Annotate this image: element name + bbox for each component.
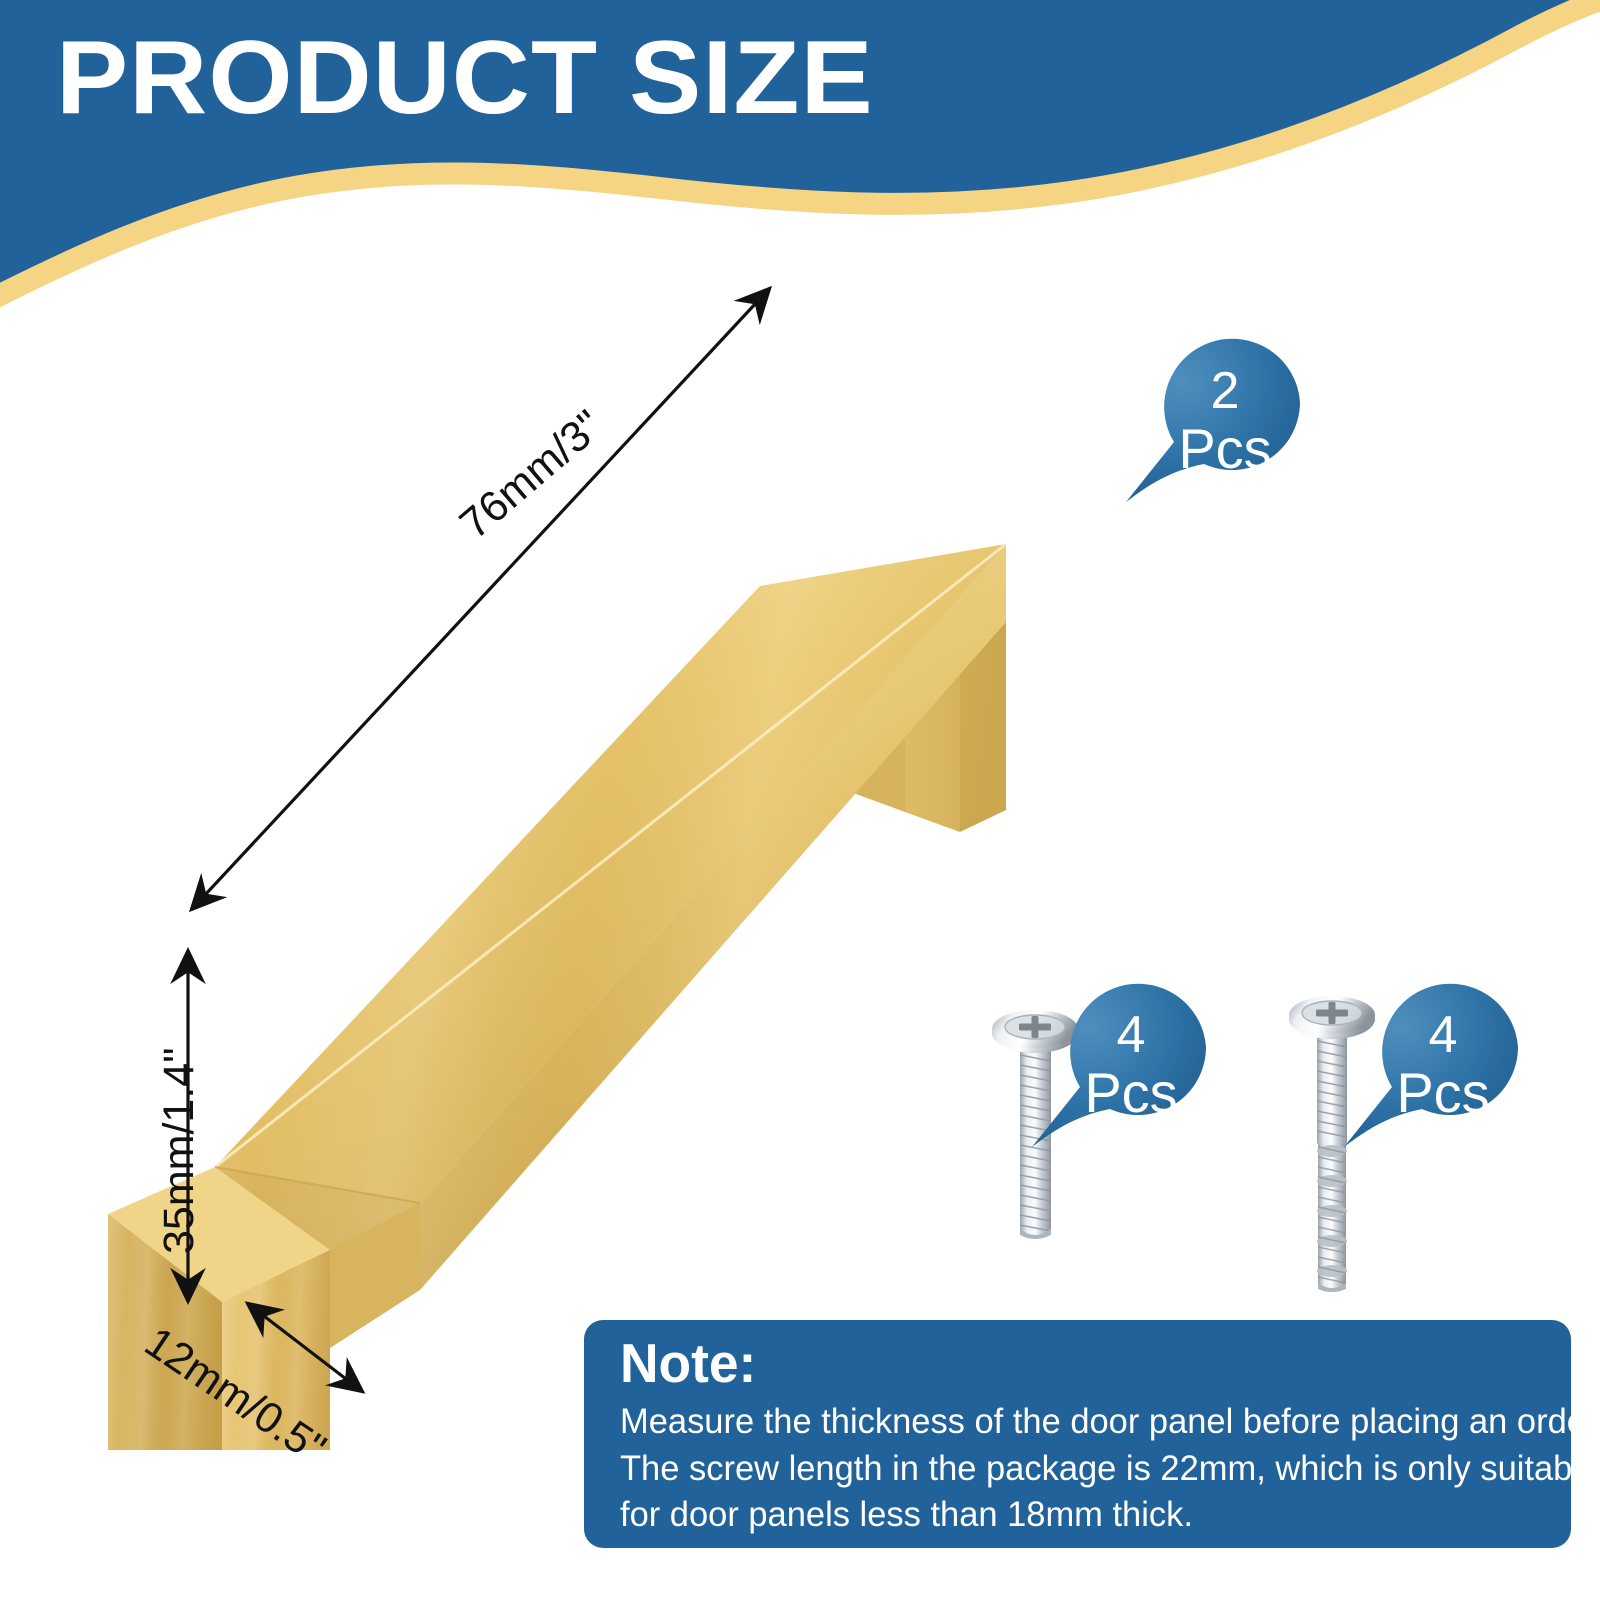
note-body: Measure the thickness of the door panel … bbox=[620, 1399, 1527, 1539]
note-line: The screw length in the package is 22mm,… bbox=[620, 1446, 1527, 1493]
note-title: Note: bbox=[620, 1336, 1513, 1391]
note-box: Note: Measure the thickness of the door … bbox=[584, 1320, 1571, 1548]
badge-handle-quantity: 2 Pcs bbox=[1122, 330, 1302, 505]
teardrop-shape-icon bbox=[1340, 975, 1520, 1150]
screw-ribbed-section bbox=[1317, 1143, 1347, 1289]
handle-top-highlight bbox=[215, 544, 1006, 1167]
teardrop-shape-icon bbox=[1028, 975, 1208, 1150]
handle-bar-top-brush bbox=[215, 544, 1006, 1203]
note-line: Measure the thickness of the door panel … bbox=[620, 1399, 1527, 1446]
page-title: PRODUCT SIZE bbox=[56, 26, 874, 130]
teardrop-shape-icon bbox=[1122, 330, 1302, 505]
badge-screw-short-quantity: 4 Pcs bbox=[1028, 975, 1208, 1150]
note-line: for door panels less than 18mm thick. bbox=[620, 1492, 1527, 1539]
dimension-label-height: 35mm/1.4" bbox=[155, 1048, 204, 1254]
handle-body bbox=[108, 544, 1006, 1450]
badge-screw-long-quantity: 4 Pcs bbox=[1340, 975, 1520, 1150]
product-size-infographic: PRODUCT SIZE bbox=[0, 0, 1600, 1600]
